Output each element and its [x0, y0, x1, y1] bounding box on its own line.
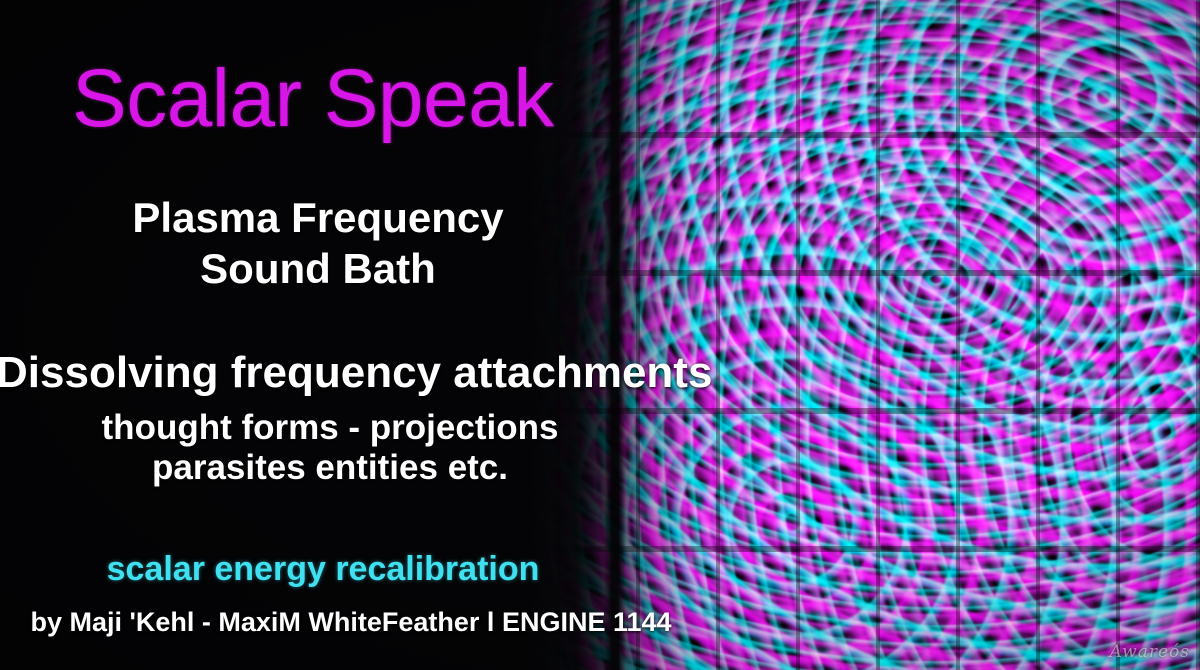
headline: Dissolving frequency attachments: [0, 351, 688, 395]
subtitle-line-1: Plasma Frequency: [0, 192, 636, 243]
subtitle-line-2: Sound Bath: [0, 243, 636, 294]
byline-credits: by Maji 'Kehl - MaxiM WhiteFeather l ENG…: [0, 609, 702, 636]
detail-block: thought forms - projections parasites en…: [0, 408, 660, 489]
tagline: scalar energy recalibration: [0, 552, 646, 586]
text-layer: Scalar Speak Plasma Frequency Sound Bath…: [0, 0, 1200, 670]
page-title: Scalar Speak: [72, 58, 554, 140]
watermark: Awareós: [1110, 642, 1190, 662]
detail-line-2: parasites entities etc.: [0, 448, 660, 488]
scalar-speak-slide: Scalar Speak Plasma Frequency Sound Bath…: [0, 0, 1200, 670]
subtitle-block: Plasma Frequency Sound Bath: [0, 192, 636, 294]
detail-line-1: thought forms - projections: [0, 408, 660, 448]
